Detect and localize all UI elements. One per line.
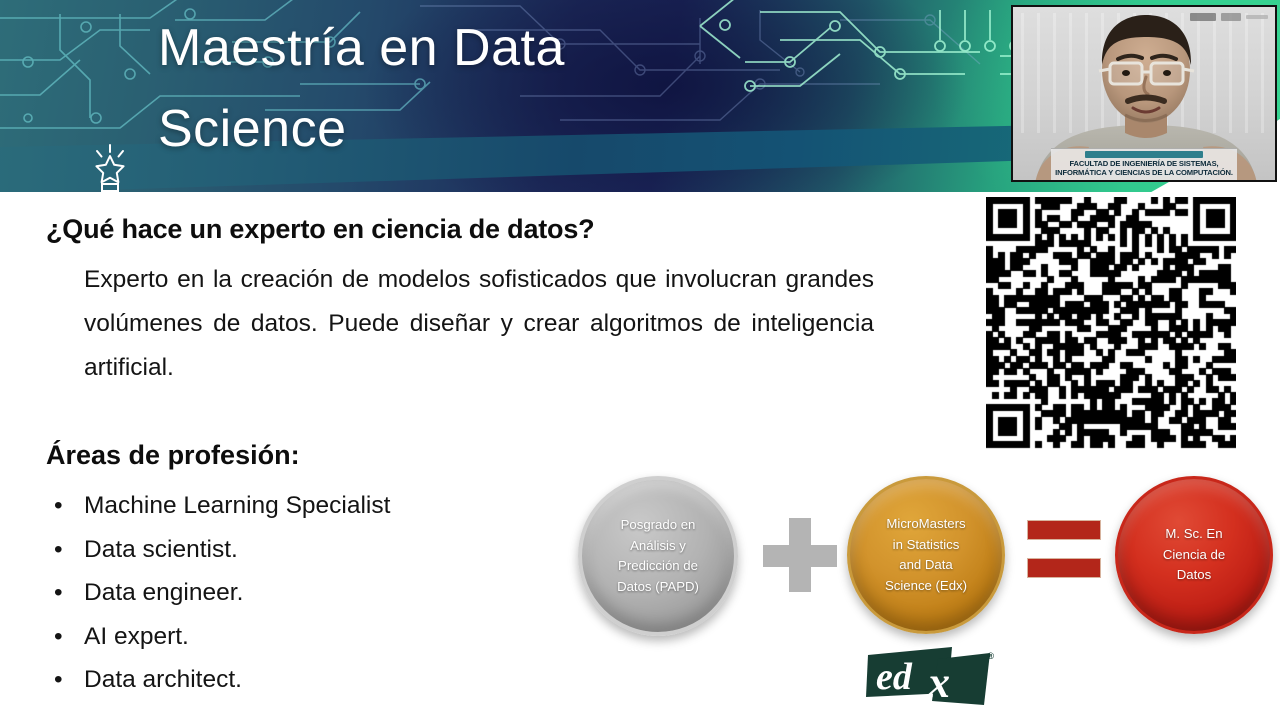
svg-text:ed: ed bbox=[876, 656, 913, 698]
areas-heading: Áreas de profesión: bbox=[46, 440, 300, 471]
program-pathway-diagram: Posgrado en Análisis y Predicción de Dat… bbox=[575, 470, 1280, 645]
answer-paragraph: Experto en la creación de modelos sofist… bbox=[84, 258, 874, 390]
page-title: Maestría en Data Science bbox=[158, 8, 858, 169]
registered-trademark-icon: ® bbox=[987, 651, 994, 661]
logo-chip-tertiary bbox=[1246, 15, 1268, 19]
disc-micromasters: MicroMasters in Statistics and Data Scie… bbox=[847, 476, 1005, 634]
bullet-icon: • bbox=[54, 528, 63, 572]
bullet-icon: • bbox=[54, 658, 63, 702]
bullet-icon: • bbox=[54, 571, 63, 615]
list-item: •AI expert. bbox=[46, 615, 390, 659]
presenter-faculty: FACULTAD DE INGENIERÍA DE SISTEMAS, INFO… bbox=[1053, 159, 1235, 178]
edx-logo: ed x ® bbox=[866, 645, 996, 707]
logo-chip-secondary bbox=[1221, 13, 1241, 21]
qr-code-image bbox=[986, 197, 1236, 453]
list-item-label: Machine Learning Specialist bbox=[84, 492, 390, 519]
list-item-label: Data engineer. bbox=[84, 579, 243, 606]
institution-logos bbox=[1190, 13, 1268, 21]
equals-icon bbox=[1027, 520, 1101, 582]
question-heading: ¿Qué hace un experto en ciencia de datos… bbox=[46, 214, 594, 245]
presenter-name: NELSON PUMA - PONENTE bbox=[1085, 151, 1203, 158]
webcam-video-overlay[interactable]: NELSON PUMA - PONENTE FACULTAD DE INGENI… bbox=[1011, 5, 1277, 182]
svg-text:x: x bbox=[927, 658, 950, 707]
disc-papd: Posgrado en Análisis y Predicción de Dat… bbox=[578, 476, 738, 636]
list-item-label: AI expert. bbox=[84, 623, 189, 650]
list-item: •Data scientist. bbox=[46, 528, 390, 572]
areas-list: •Machine Learning Specialist •Data scien… bbox=[46, 484, 390, 702]
logo-chip-primary bbox=[1190, 13, 1216, 21]
star-trophy-icon bbox=[84, 141, 136, 192]
list-item: •Data architect. bbox=[46, 658, 390, 702]
plus-icon bbox=[763, 518, 837, 592]
list-item: •Data engineer. bbox=[46, 571, 390, 615]
list-item: •Machine Learning Specialist bbox=[46, 484, 390, 528]
disc-msc: M. Sc. En Ciencia de Datos bbox=[1115, 476, 1273, 634]
bullet-icon: • bbox=[54, 615, 63, 659]
bullet-icon: • bbox=[54, 484, 63, 528]
presenter-caption: NELSON PUMA - PONENTE FACULTAD DE INGENI… bbox=[1051, 148, 1237, 181]
list-item-label: Data architect. bbox=[84, 666, 242, 693]
list-item-label: Data scientist. bbox=[84, 536, 238, 563]
